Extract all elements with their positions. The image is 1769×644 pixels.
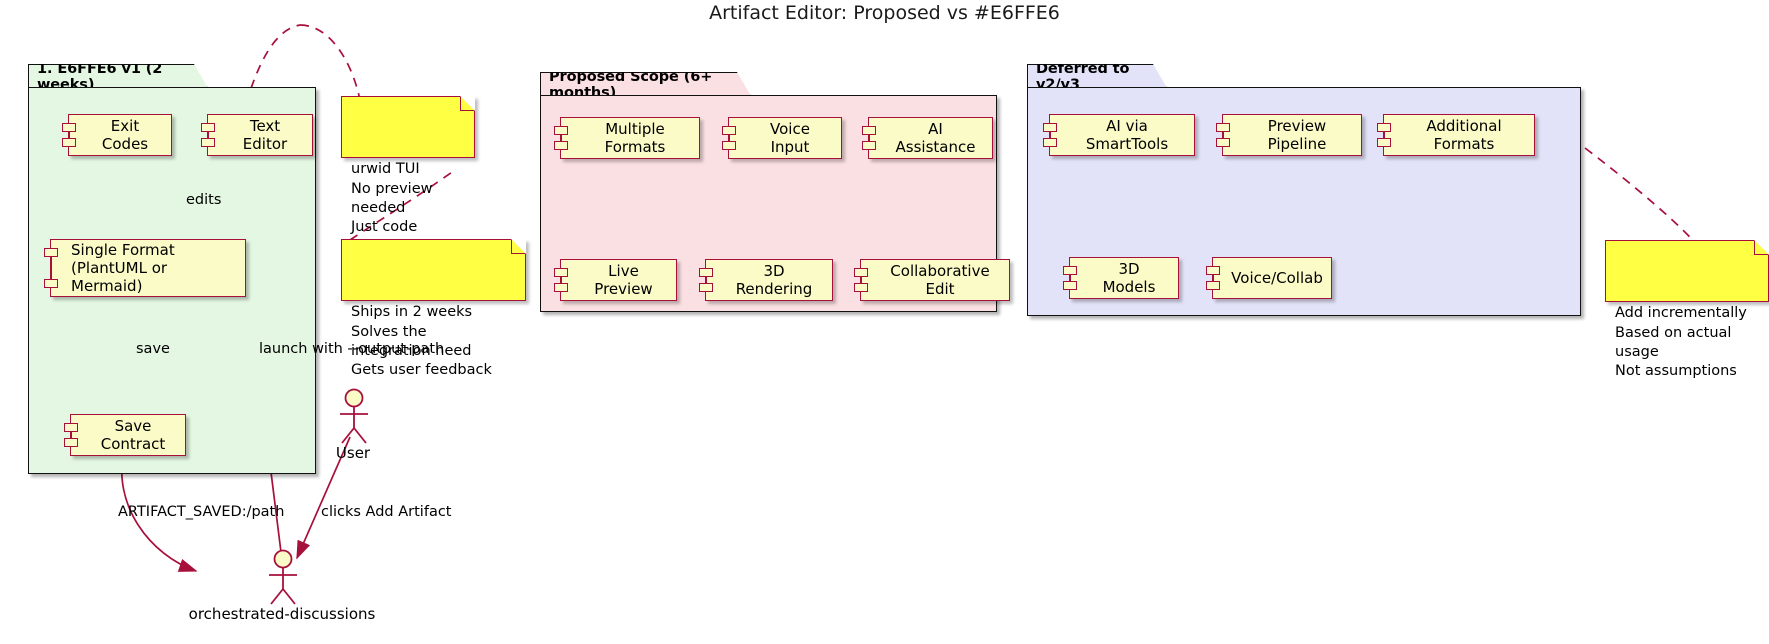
component-live-preview[interactable]: Live Preview: [560, 259, 677, 301]
note-urwid-tui[interactable]: urwid TUI No preview needed Just code ed…: [341, 96, 475, 158]
component-port-bottom: [1063, 281, 1077, 290]
component-3d-models[interactable]: 3D Models: [1069, 257, 1179, 299]
package-deferred: Deferred to v2/v3 AI via SmartTools Prev…: [1027, 64, 1581, 316]
edge-label-launch: launch with --output-path: [259, 341, 444, 357]
component-single-format[interactable]: Single Format (PlantUML or Mermaid): [50, 239, 246, 297]
component-label: Save Contract: [91, 417, 175, 454]
note-text: Add incrementally Based on actual usage …: [1615, 305, 1747, 378]
component-port-bottom: [1377, 138, 1391, 147]
page-title: Artifact Editor: Proposed vs #E6FFE6: [0, 2, 1769, 24]
component-label: 3D Models: [1090, 260, 1168, 297]
component-label: Voice Input: [749, 120, 831, 157]
actor-orchestrated-figure: [261, 549, 305, 607]
component-port-top: [554, 126, 568, 135]
component-multiple-formats[interactable]: Multiple Formats: [560, 117, 700, 159]
component-3d-rendering[interactable]: 3D Rendering: [705, 259, 833, 301]
component-port-bottom: [699, 283, 713, 292]
component-port-top: [1206, 266, 1220, 275]
actor-user-label: User: [336, 444, 370, 462]
component-port-bottom: [862, 141, 876, 150]
component-port-top: [64, 423, 78, 432]
component-port-top: [722, 126, 736, 135]
component-label: Voice/Collab: [1231, 269, 1323, 287]
component-port-bottom: [62, 138, 76, 147]
component-port-top: [62, 123, 76, 132]
edge-label-edits: edits: [186, 192, 221, 208]
component-ai-via-smarttools[interactable]: AI via SmartTools: [1049, 114, 1195, 156]
component-port-bottom: [854, 283, 868, 292]
component-port-bottom: [64, 438, 78, 447]
component-port-top: [1063, 266, 1077, 275]
component-ai-assistance[interactable]: AI Assistance: [868, 117, 993, 159]
component-additional-formats[interactable]: Additional Formats: [1383, 114, 1535, 156]
note-add-incrementally[interactable]: Add incrementally Based on actual usage …: [1605, 240, 1769, 302]
component-port-top: [699, 268, 713, 277]
component-port-top: [862, 126, 876, 135]
component-voice-collab[interactable]: Voice/Collab: [1212, 257, 1332, 299]
component-label: Preview Pipeline: [1243, 117, 1351, 154]
component-port-top: [1377, 123, 1391, 132]
component-port-bottom: [1216, 138, 1230, 147]
component-preview-pipeline[interactable]: Preview Pipeline: [1222, 114, 1362, 156]
component-save-contract[interactable]: Save Contract: [70, 414, 186, 456]
note-ships-in-2-weeks[interactable]: Ships in 2 weeks Solves the integration …: [341, 239, 526, 301]
component-port-bottom: [1043, 138, 1057, 147]
edge-label-save: save: [136, 341, 170, 357]
edge-label-clicks-add-artifact: clicks Add Artifact: [321, 504, 452, 520]
component-label: Live Preview: [581, 262, 666, 299]
component-port-bottom: [201, 138, 215, 147]
actor-orchestrated-label: orchestrated-discussions: [189, 605, 376, 623]
component-label: Text Editor: [228, 117, 302, 154]
component-collaborative-edit[interactable]: Collaborative Edit: [860, 259, 1010, 301]
component-port-bottom: [554, 141, 568, 150]
note-link-incremental: [1585, 148, 1700, 248]
component-port-bottom: [44, 279, 58, 288]
package-current-label: 1. E6FFE6 v1 (2 weeks): [28, 64, 208, 88]
actor-user[interactable]: User: [332, 388, 374, 450]
component-port-bottom: [722, 141, 736, 150]
component-port-top: [1043, 123, 1057, 132]
component-label: Single Format (PlantUML or Mermaid): [71, 241, 235, 296]
component-label: Exit Codes: [89, 117, 161, 154]
component-label: Collaborative Edit: [881, 262, 999, 299]
diagram-canvas: Artifact Editor: Proposed vs #E6FFE6 1. …: [0, 0, 1769, 644]
component-label: Additional Formats: [1404, 117, 1524, 154]
package-deferred-label: Deferred to v2/v3: [1027, 64, 1167, 88]
component-port-top: [854, 268, 868, 277]
edge-label-artifact-saved: ARTIFACT_SAVED:/path: [118, 504, 284, 520]
component-exit-codes[interactable]: Exit Codes: [68, 114, 172, 156]
component-port-top: [554, 268, 568, 277]
package-current: 1. E6FFE6 v1 (2 weeks) Exit Codes Text E…: [28, 64, 316, 474]
actor-orchestrated-discussions[interactable]: orchestrated-discussions: [261, 549, 303, 611]
component-port-top: [1216, 123, 1230, 132]
component-label: 3D Rendering: [726, 262, 822, 299]
component-port-bottom: [554, 283, 568, 292]
component-label: Multiple Formats: [581, 120, 689, 157]
component-port-bottom: [1206, 281, 1220, 290]
component-text-editor[interactable]: Text Editor: [207, 114, 313, 156]
package-proposed-label: Proposed Scope (6+ months): [540, 72, 751, 96]
component-voice-input[interactable]: Voice Input: [728, 117, 842, 159]
package-proposed: Proposed Scope (6+ months) Multiple Form…: [540, 72, 997, 312]
component-label: AI via SmartTools: [1070, 117, 1184, 154]
component-port-top: [201, 123, 215, 132]
component-port-top: [44, 248, 58, 257]
actor-user-figure: [332, 388, 376, 446]
component-label: AI Assistance: [889, 120, 982, 157]
